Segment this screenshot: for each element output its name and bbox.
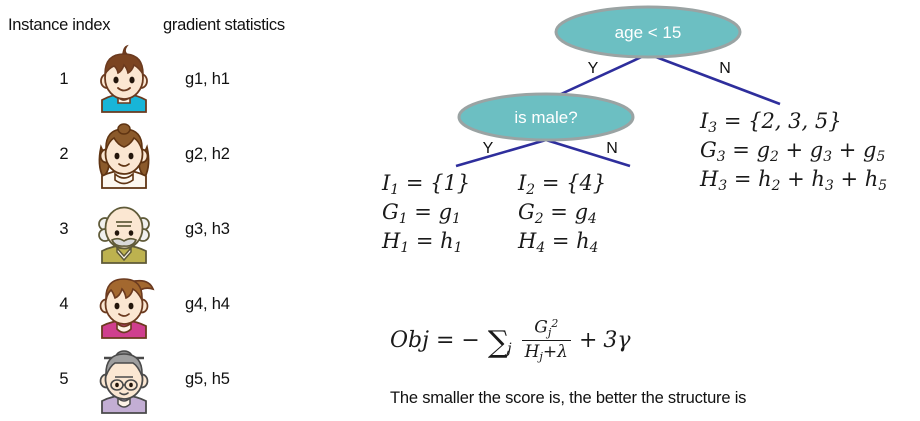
table-row: 5 xyxy=(0,342,360,418)
table-row: 3 g3, h3 xyxy=(0,192,360,268)
row-index-label: 3 xyxy=(44,220,84,239)
column-header-instance-index: Instance index xyxy=(8,16,110,35)
instance-table-panel: Instance index gradient statistics 1 xyxy=(0,0,360,421)
obj-plus: + xyxy=(579,328,597,353)
row-index-label: 4 xyxy=(44,295,84,314)
leaf-stats-block-1: I1 = {1} G1 = g1 H1 = h1 xyxy=(382,170,470,257)
decision-tree-panel: age < 15 is male? Y N Y N I1 = {1} G1 = … xyxy=(360,0,920,421)
leaf2-line-I: I2 = {4} xyxy=(518,170,606,199)
edge-label-child-no: N xyxy=(606,140,618,157)
leaf3-line-H: H3 = h2 + h3 + h5 xyxy=(700,166,887,195)
leaf-stats-block-3: I3 = {2, 3, 5} G3 = g2 + g3 + g5 H3 = h2… xyxy=(700,108,887,195)
obj-sum-index: j xyxy=(507,341,511,357)
row-gradient-stats: g1, h1 xyxy=(185,70,230,89)
leaf1-line-H: H1 = h1 xyxy=(382,228,470,257)
edge-child-yes xyxy=(456,140,546,166)
row-gradient-stats: g4, h4 xyxy=(185,295,230,314)
table-row: 1 g1, h1 xyxy=(0,42,360,118)
row-gradient-stats: g2, h2 xyxy=(185,145,230,164)
leaf2-line-H: H4 = h4 xyxy=(518,228,606,257)
tree-node-root-label: age < 15 xyxy=(615,23,682,42)
obj-numerator: Gj2 xyxy=(531,317,561,340)
column-header-gradient-statistics: gradient statistics xyxy=(163,16,285,35)
row-index-label: 2 xyxy=(44,145,84,164)
edge-root-no xyxy=(648,54,780,104)
old-woman-avatar-icon xyxy=(88,344,160,416)
row-gradient-stats: g5, h5 xyxy=(185,370,230,389)
old-man-avatar-icon xyxy=(88,194,160,266)
obj-lhs: Obj xyxy=(390,328,429,353)
leaf3-line-G: G3 = g2 + g3 + g5 xyxy=(700,137,887,166)
leaf3-line-I: I3 = {2, 3, 5} xyxy=(700,108,887,137)
obj-minus: − xyxy=(461,328,479,353)
row-gradient-stats: g3, h3 xyxy=(185,220,230,239)
leaf2-line-G: G2 = g4 xyxy=(518,199,606,228)
slide-canvas: Instance index gradient statistics 1 xyxy=(0,0,920,421)
edge-label-child-yes: Y xyxy=(483,140,494,157)
edge-label-root-no: N xyxy=(719,60,731,77)
edge-label-root-yes: Y xyxy=(588,60,599,77)
table-row: 2 g2, h2 xyxy=(0,117,360,193)
row-index-label: 5 xyxy=(44,370,84,389)
obj-denominator: Hj+λ xyxy=(522,340,571,363)
leaf1-line-G: G1 = g1 xyxy=(382,199,470,228)
obj-fraction: Gj2 Hj+λ xyxy=(522,317,571,363)
row-index-label: 1 xyxy=(44,70,84,89)
girl-avatar-icon xyxy=(88,119,160,191)
tree-node-is-male-label: is male? xyxy=(514,108,577,127)
boy-avatar-icon xyxy=(88,44,160,116)
caption-text: The smaller the score is, the better the… xyxy=(390,389,746,408)
woman-avatar-icon xyxy=(88,269,160,341)
leaf-stats-block-2: I2 = {4} G2 = g4 H4 = h4 xyxy=(518,170,606,257)
leaf1-line-I: I1 = {1} xyxy=(382,170,470,199)
objective-function-formula: Obj = − ∑ j Gj2 Hj+λ + 3γ xyxy=(390,318,631,364)
obj-equals: = xyxy=(436,328,454,353)
obj-gamma-term: 3γ xyxy=(603,328,630,353)
table-row: 4 g4, h4 xyxy=(0,267,360,343)
